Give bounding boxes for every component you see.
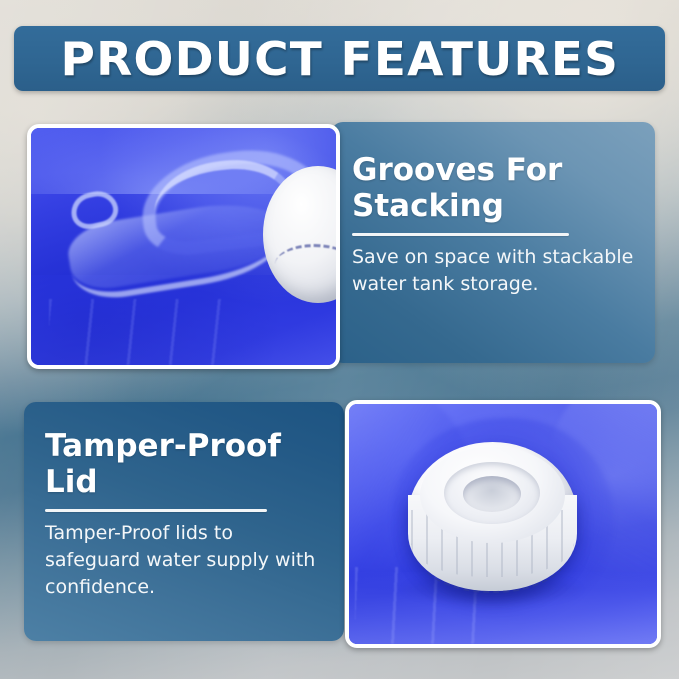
lid-text-block: Tamper-Proof Lid Tamper-Proof lids to sa… [45, 428, 329, 601]
grooves-photo-frame [27, 124, 340, 369]
cap-center-recess [463, 476, 522, 512]
grooves-body-text: Save on space with stackable water tank … [352, 244, 640, 298]
grooves-heading: Grooves For Stacking [352, 152, 640, 224]
header-bar: PRODUCT FEATURES [14, 26, 665, 91]
lid-divider [45, 509, 267, 512]
blue-water-tank-grooves-photo [31, 128, 336, 365]
white-tamper-proof-cap-photo [349, 404, 657, 644]
lid-body-text: Tamper-Proof lids to safeguard water sup… [45, 520, 329, 601]
lid-heading: Tamper-Proof Lid [45, 428, 329, 500]
grooves-divider [352, 233, 569, 236]
lid-photo-frame [345, 400, 661, 648]
page-title: PRODUCT FEATURES [60, 36, 619, 82]
tank-ribs [49, 299, 226, 365]
grooves-text-block: Grooves For Stacking Save on space with … [352, 152, 640, 298]
